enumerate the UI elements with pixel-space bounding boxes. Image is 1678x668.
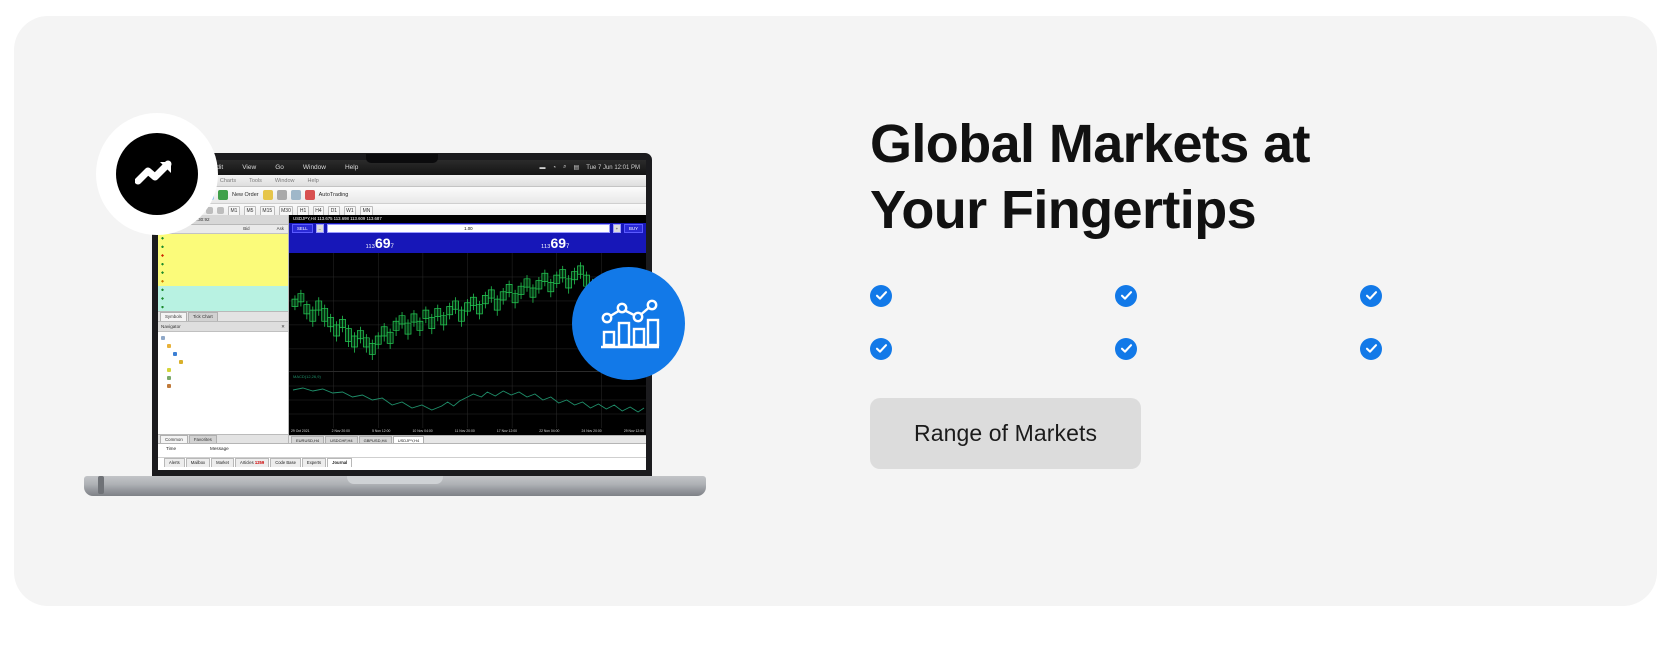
new-order-icon[interactable]	[218, 190, 228, 200]
market-watch-row[interactable]	[158, 303, 288, 312]
new-order-label[interactable]: New Order	[232, 192, 259, 198]
axis-tick-label: 2 Nov 20:00	[332, 428, 350, 435]
checkmark-icon	[1365, 289, 1378, 302]
navigator-node-icon	[167, 368, 171, 372]
trend-arrow-icon	[161, 288, 164, 291]
navigator-item[interactable]	[161, 366, 288, 374]
row-symbol-cell	[158, 306, 215, 309]
column-bid: Bid	[215, 225, 249, 233]
row-symbol-cell	[158, 254, 215, 257]
terminal-tab-label: Code Base	[275, 460, 296, 465]
laptop-base-notch	[347, 476, 443, 484]
macd-label: MACD(12,26,9)	[293, 374, 321, 379]
price-quotes: 113 69 7 113 69 7	[292, 232, 643, 253]
terminal-tab[interactable]: Alerts	[164, 458, 185, 467]
row-symbol-cell	[158, 288, 215, 291]
axis-tick-label: 10 Nov 04:00	[413, 428, 433, 435]
feature-item	[870, 335, 1115, 388]
navigator-item[interactable]	[161, 382, 288, 390]
row-symbol-cell	[158, 245, 215, 248]
tab-tick-chart[interactable]: Tick Chart	[188, 312, 218, 321]
mt4-menu-charts[interactable]: Charts	[220, 178, 236, 184]
sell-price-prefix: 113	[366, 244, 375, 250]
articles-badge: 1259	[255, 460, 264, 465]
checkmark-icon	[1120, 289, 1133, 302]
navigator-node-icon	[161, 336, 165, 340]
terminal-columns: Time Message	[158, 444, 646, 457]
feature-item	[1115, 282, 1360, 335]
timeframe-h4[interactable]: H4	[313, 206, 324, 216]
feature-item	[1360, 282, 1630, 335]
markets-chart-badge	[572, 267, 685, 380]
feature-grid	[870, 282, 1630, 388]
row-symbol-cell	[158, 271, 215, 274]
market-watch-row[interactable]	[158, 268, 288, 277]
terminal-tab[interactable]: Mailbox	[186, 458, 210, 467]
market-watch-row[interactable]	[158, 243, 288, 252]
one-click-trading-panel: SELL – 1.00 + BUY 113	[289, 223, 646, 253]
timeframe-m1[interactable]: M1	[228, 206, 240, 216]
market-watch-row[interactable]	[158, 286, 288, 295]
sell-price-sup: 7	[391, 244, 394, 250]
market-watch-rows	[158, 234, 288, 311]
feature-item	[1360, 335, 1630, 388]
metaeditor-icon[interactable]	[263, 190, 273, 200]
terminal-tab-label: Market	[216, 460, 229, 465]
product-visual: Edit View Go Window Help ▬ ◔ ⌕ ▤ Tue 7 J…	[74, 91, 754, 541]
trend-arrow-icon	[161, 263, 164, 266]
timeframe-w1[interactable]: W1	[344, 206, 357, 216]
axis-tick-label: 24 Nov 20:00	[582, 428, 602, 435]
timeframe-d1[interactable]: D1	[328, 206, 339, 216]
trend-arrow-icon	[161, 237, 164, 240]
row-symbol-cell	[158, 297, 215, 300]
bar-chart-line-icon	[598, 296, 660, 352]
terminal-tab-label: Articles	[240, 460, 254, 465]
axis-tick-label: 5 Nov 12:00	[372, 428, 390, 435]
market-watch-row[interactable]	[158, 277, 288, 286]
sell-price: 113 69 7	[366, 236, 394, 250]
screenshot-root: Edit View Go Window Help ▬ ◔ ⌕ ▤ Tue 7 J…	[0, 0, 1678, 668]
terminal-tab-label: Experts	[307, 460, 321, 465]
feature-item	[870, 282, 1115, 335]
close-icon[interactable]: ✕	[281, 322, 285, 331]
terminal-tab[interactable]: Market	[211, 458, 234, 467]
terminal-tab-label: Mailbox	[191, 460, 205, 465]
search-icon[interactable]: ⌕	[563, 164, 566, 171]
menu-item-help[interactable]: Help	[345, 164, 358, 171]
mt4-menu-window[interactable]: Window	[275, 178, 295, 184]
navigator-node-icon	[179, 360, 183, 364]
feature-check-badge	[1360, 338, 1382, 360]
mt4-toolbar-primary: New Order AutoTrading	[158, 187, 646, 204]
terminal-column-message: Message	[210, 446, 229, 457]
laptop-base	[84, 476, 706, 496]
axis-tick-label: 22 Nov 04:00	[539, 428, 559, 435]
terminal-column-time: Time	[166, 446, 176, 457]
navigator-header: Navigator ✕	[158, 322, 288, 332]
terminal-icon[interactable]	[291, 190, 301, 200]
row-symbol-cell	[158, 280, 215, 283]
navigator-tree	[158, 332, 288, 434]
autotrading-icon[interactable]	[305, 190, 315, 200]
trend-arrow-icon	[161, 297, 164, 300]
page-title: Global Markets at Your Fingertips	[870, 111, 1390, 244]
feature-check-badge	[870, 285, 892, 307]
chart-title: USDJPY,H4 113.675 113.698 113.609 113.68…	[289, 215, 646, 223]
trending-up-icon	[135, 157, 179, 191]
axis-tick-label: 29 Oct 2021	[291, 428, 309, 435]
menu-item-go[interactable]: Go	[275, 164, 284, 171]
timeframe-mn[interactable]: MN	[360, 206, 373, 216]
navigator-node-icon	[167, 344, 171, 348]
row-symbol-cell	[158, 263, 215, 266]
market-watch-row[interactable]	[158, 234, 288, 243]
axis-tick-label: 11 Nov 20:00	[455, 428, 475, 435]
feature-item	[1115, 335, 1360, 388]
mt4-left-panels: Market Watch: 22:30:92 Symbol Bid Ask Sy…	[158, 215, 289, 444]
battery-icon: ▬	[540, 165, 546, 171]
checkmark-icon	[875, 342, 888, 355]
row-symbol-cell	[158, 237, 215, 240]
terminal-tab-label: Alerts	[169, 460, 180, 465]
navigator-node-icon	[167, 376, 171, 380]
terminal-tab[interactable]: Articles 1259	[235, 458, 269, 467]
timeframe-h1[interactable]: H1	[297, 206, 308, 216]
timeframe-m15[interactable]: M15	[260, 206, 275, 216]
menu-item-window[interactable]: Window	[303, 164, 326, 171]
laptop-foot	[98, 476, 104, 494]
market-watch-tabs: Symbols Tick Chart	[158, 311, 288, 321]
mt4-menu-tools[interactable]: Tools	[249, 178, 262, 184]
mt4-terminal: Time Message AlertsMailboxMarketArticles…	[158, 443, 646, 470]
column-ask: Ask	[250, 225, 288, 233]
control-center-icon[interactable]: ▤	[574, 164, 580, 171]
axis-tick-label: 17 Nov 12:00	[497, 428, 517, 435]
terminal-tab[interactable]: Code Base	[270, 458, 301, 467]
headline-line-1: Global Markets at	[870, 114, 1310, 174]
feature-check-badge	[1360, 285, 1382, 307]
trend-arrow-icon	[161, 245, 164, 248]
strategy-tester-icon[interactable]	[277, 190, 287, 200]
buy-price-main: 69	[550, 236, 566, 250]
range-of-markets-button[interactable]: Range of Markets	[870, 398, 1141, 469]
timeframe-m30[interactable]: M30	[279, 206, 294, 216]
navigator-title: Navigator	[161, 322, 181, 331]
feature-check-badge	[1115, 338, 1137, 360]
mt4-titlebar: File Charts Tools Window Help	[158, 175, 646, 187]
hero-content: Global Markets at Your Fingertips Range …	[870, 111, 1630, 469]
menu-item-view[interactable]: View	[242, 164, 256, 171]
trend-arrow-icon	[161, 271, 164, 274]
clock-label: Tue 7 Jun 12:01 PM	[586, 165, 640, 171]
laptop-notch	[366, 154, 438, 163]
order-controls: SELL – 1.00 + BUY	[292, 224, 643, 232]
market-watch-row[interactable]	[158, 260, 288, 269]
navigator-item[interactable]	[161, 350, 288, 358]
timeframe-m5[interactable]: M5	[244, 206, 256, 216]
navigator-item[interactable]	[161, 342, 288, 350]
headline-line-2: Your Fingertips	[870, 180, 1256, 240]
terminal-tabs: AlertsMailboxMarketArticles 1259Code Bas…	[158, 457, 646, 467]
navigator-node-icon	[173, 352, 177, 356]
macd-indicator-chart: MACD(12,26,9)	[289, 371, 646, 428]
axis-tick-label: 29 Nov 12:00	[624, 428, 644, 435]
feature-check-badge	[870, 338, 892, 360]
trend-arrow-icon	[161, 280, 164, 283]
navigator-item[interactable]	[161, 374, 288, 382]
navigator-panel: Navigator ✕ Common Favorites	[158, 321, 288, 444]
trend-arrow-icon	[161, 254, 164, 257]
navigator-item[interactable]	[161, 358, 288, 366]
chart-time-axis: 29 Oct 20212 Nov 20:005 Nov 12:0010 Nov …	[289, 428, 646, 435]
hero-card: Edit View Go Window Help ▬ ◔ ⌕ ▤ Tue 7 J…	[14, 16, 1657, 606]
wifi-icon: ◔	[553, 165, 557, 171]
checkmark-icon	[875, 289, 888, 302]
macd-svg	[289, 372, 646, 428]
checkmark-icon	[1365, 342, 1378, 355]
terminal-tab-label: Journal	[332, 460, 347, 465]
sell-price-main: 69	[375, 236, 391, 250]
terminal-tab[interactable]: Journal	[327, 458, 352, 467]
fibonacci-icon[interactable]	[217, 207, 224, 214]
market-watch-row[interactable]	[158, 251, 288, 260]
trending-up-badge	[116, 133, 198, 215]
tab-symbols[interactable]: Symbols	[160, 312, 187, 321]
terminal-tab[interactable]: Experts	[302, 458, 326, 467]
mt4-menu-help[interactable]: Help	[307, 178, 318, 184]
checkmark-icon	[1120, 342, 1133, 355]
buy-price-prefix: 113	[541, 244, 550, 250]
market-watch-row[interactable]	[158, 294, 288, 303]
macos-status-area: ▬ ◔ ⌕ ▤ Tue 7 Jun 12:01 PM	[540, 164, 646, 171]
feature-check-badge	[1115, 285, 1137, 307]
buy-price-sup: 7	[566, 244, 569, 250]
autotrading-label[interactable]: AutoTrading	[319, 192, 349, 198]
navigator-item[interactable]	[161, 334, 288, 342]
buy-price: 113 69 7	[541, 236, 569, 250]
trend-arrow-icon	[161, 306, 164, 309]
navigator-node-icon	[167, 384, 171, 388]
